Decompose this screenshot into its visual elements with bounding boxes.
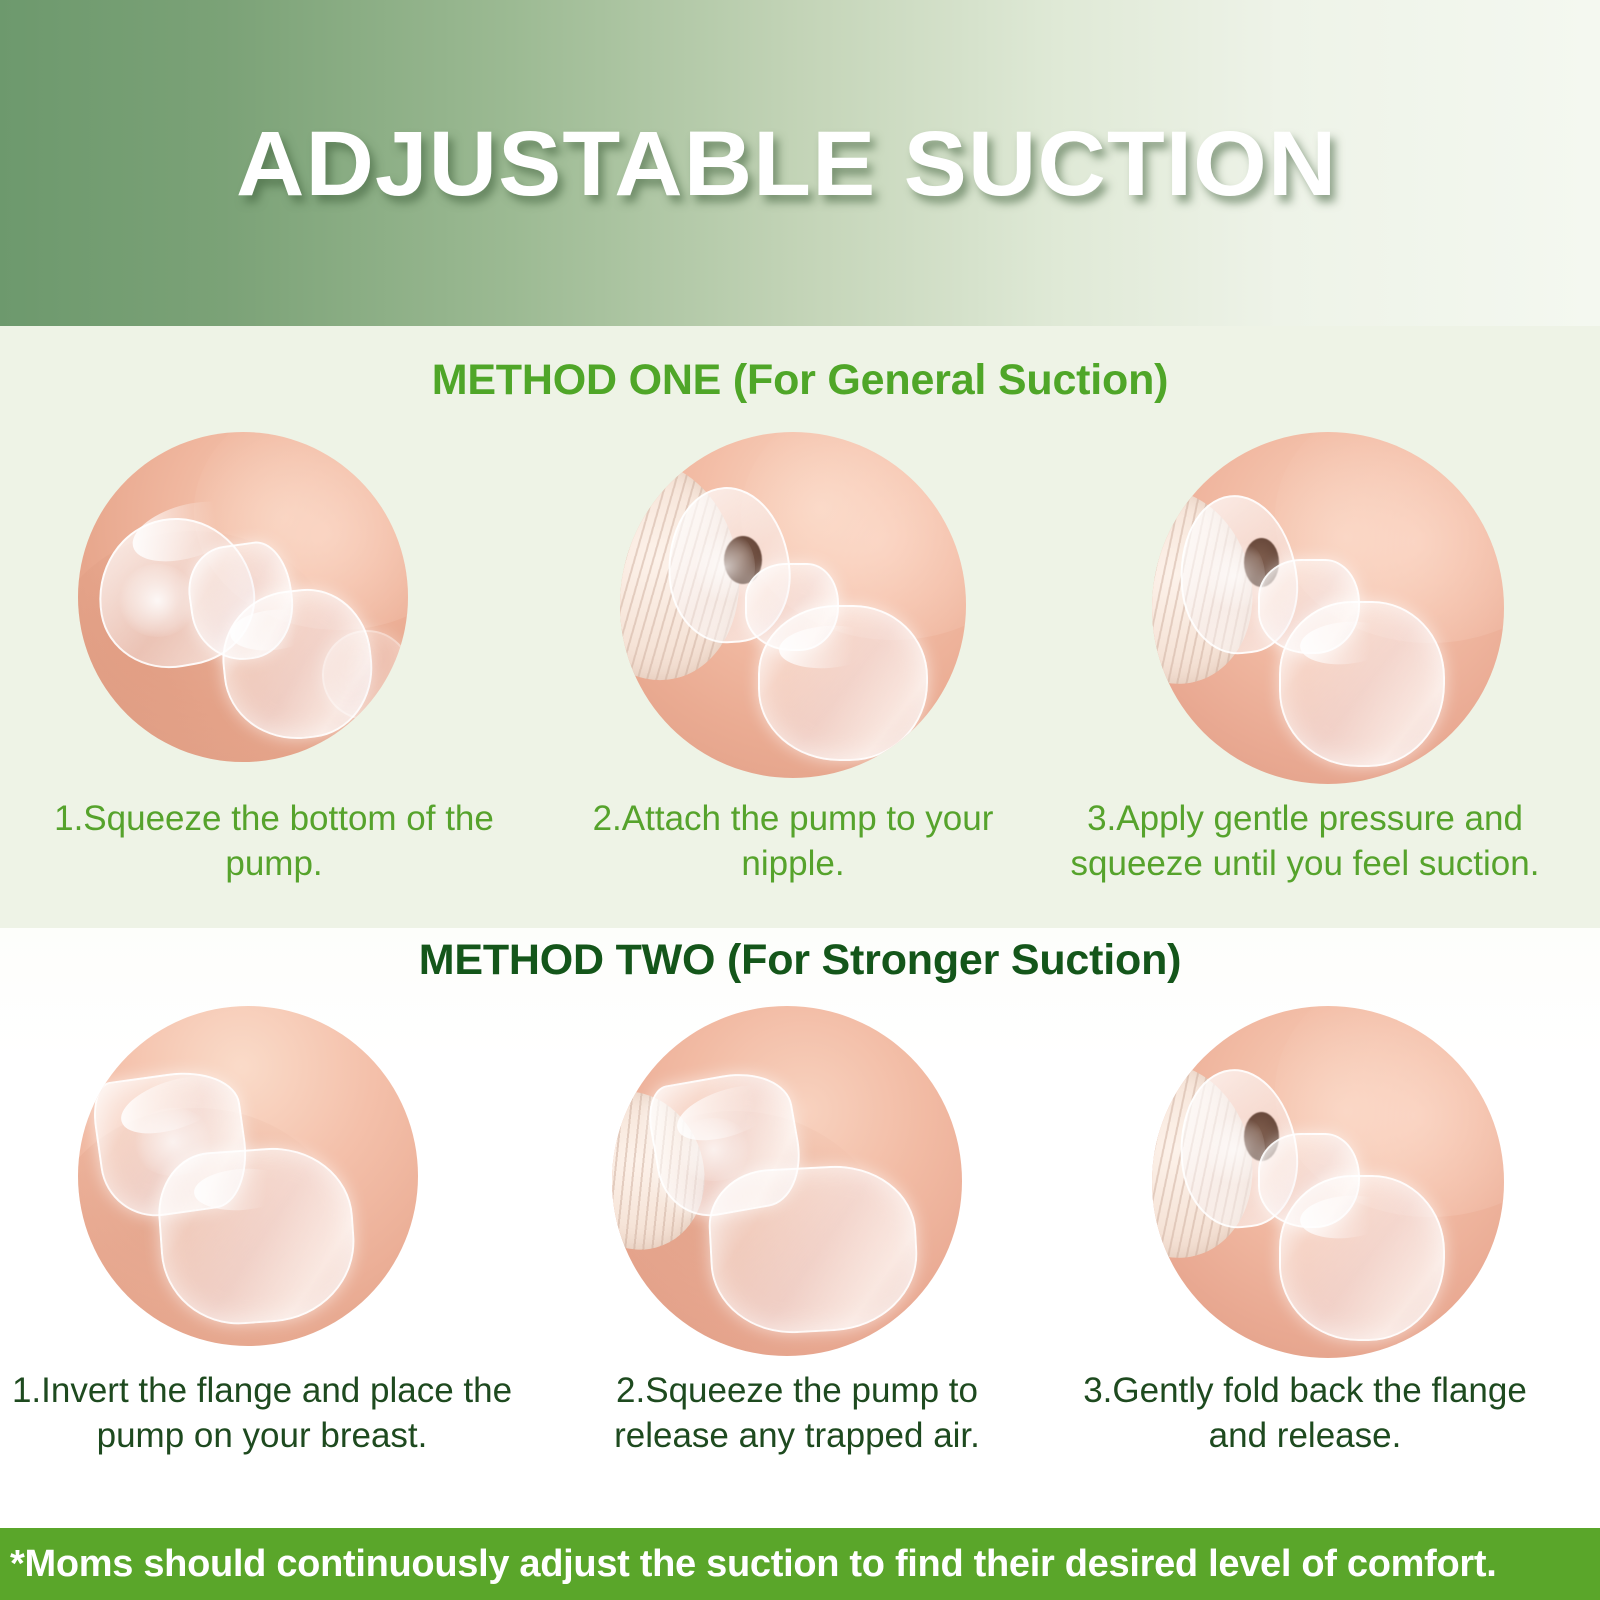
footer-note: *Moms should continuously adjust the suc…: [10, 1540, 1596, 1588]
method-two-step-2-image: [612, 1006, 962, 1356]
method-one-step-1-caption: 1.Squeeze the bottom of the pump.: [40, 796, 508, 886]
method-two-step-3-image: [1152, 1006, 1504, 1358]
page-title: ADJUSTABLE SUCTION: [236, 116, 1400, 212]
method-one-step-3-caption: 3.Apply gentle pressure and squeeze unti…: [1040, 796, 1570, 886]
method-two-heading: METHOD TWO (For Stronger Suction): [0, 936, 1600, 985]
method-one-step-3-image: [1152, 432, 1504, 784]
method-one-step-2-image: [620, 432, 966, 778]
infographic-page: ADJUSTABLE SUCTION METHOD ONE (For Gener…: [0, 0, 1600, 1600]
method-two-step-2-caption: 2.Squeeze the pump to release any trappe…: [556, 1368, 1038, 1458]
header-banner: ADJUSTABLE SUCTION: [0, 0, 1600, 326]
method-one-step-2-caption: 2.Attach the pump to your nipple.: [560, 796, 1026, 886]
method-one-heading: METHOD ONE (For General Suction): [0, 356, 1600, 405]
method-two-step-1-caption: 1.Invert the flange and place the pump o…: [2, 1368, 522, 1458]
method-two-step-1-image: [78, 1006, 418, 1346]
method-one-step-1-image: [78, 432, 408, 762]
method-two-step-3-caption: 3.Gently fold back the flange and releas…: [1072, 1368, 1538, 1458]
